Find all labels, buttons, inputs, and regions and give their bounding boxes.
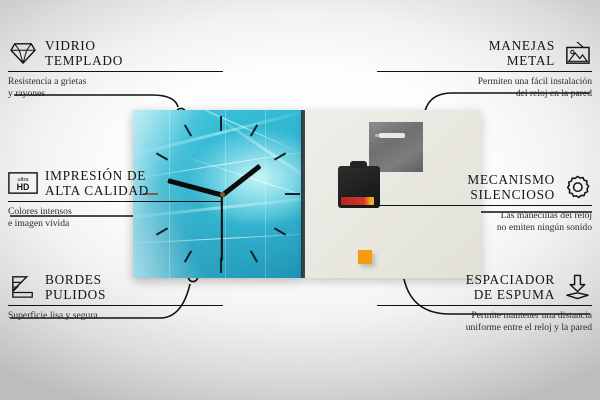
battery [341,197,374,205]
feature-title: MANEJAS METAL [489,38,555,68]
quartz-movement [338,166,380,208]
feature-description: Superficie lisa y segura [8,310,223,322]
feature-title: MECANISMO SILENCIOSO [467,172,555,202]
ultra-hd-icon: ultra HD [8,168,38,198]
svg-text:HD: HD [17,182,30,192]
feature-title: ESPACIADOR DE ESPUMA [466,272,555,302]
feature-description: Permite mantener una distancia uniforme … [377,310,592,333]
foam-spacer-icon [562,272,592,302]
tick-mark [156,152,168,160]
feature-mecanismo-silencioso: MECANISMO SILENCIOSO Las manecillas del … [377,172,592,233]
divider [8,201,223,202]
feature-title: BORDES PULIDOS [45,272,106,302]
tick-mark [184,250,192,262]
divider [8,71,223,72]
feature-title: VIDRIO TEMPLADO [45,38,123,68]
feature-vidrio-templado: VIDRIO TEMPLADO Resistencia a grietas y … [8,38,223,99]
tick-mark [184,124,192,136]
movement-tab [350,161,367,168]
hanger-slot [379,133,405,138]
feature-description: Colores intensos e imagen vívida [8,206,223,229]
metal-hanger-plate [369,122,423,172]
tick-mark [220,116,222,131]
feature-description: Permiten una fácil instalación del reloj… [377,76,592,99]
divider [377,71,592,72]
feature-title: IMPRESIÓN DE ALTA CALIDAD [45,168,149,198]
foam-spacer [358,250,372,264]
divider [8,305,223,306]
infographic-canvas: VIDRIO TEMPLADO Resistencia a grietas y … [0,0,600,400]
feature-impresion-alta-calidad: ultra HD IMPRESIÓN DE ALTA CALIDAD Color… [8,168,223,229]
gear-icon [562,172,592,202]
tick-mark [250,250,258,262]
feature-description: Resistencia a grietas y rayones [8,76,223,99]
divider [377,305,592,306]
diamond-icon [8,38,38,68]
picture-hanger-icon [562,38,592,68]
feature-bordes-pulidos: BORDES PULIDOS Superficie lisa y segura [8,272,223,322]
feature-description: Las manecillas del reloj no emiten ningú… [377,210,592,233]
hands-pivot [220,192,225,197]
divider [377,205,592,206]
tick-mark [285,193,300,195]
polished-edges-icon [8,272,38,302]
feature-manejas-metal: MANEJAS METAL Permiten una fácil instala… [377,38,592,99]
feature-espaciador-de-espuma: ESPACIADOR DE ESPUMA Permite mantener un… [377,272,592,333]
